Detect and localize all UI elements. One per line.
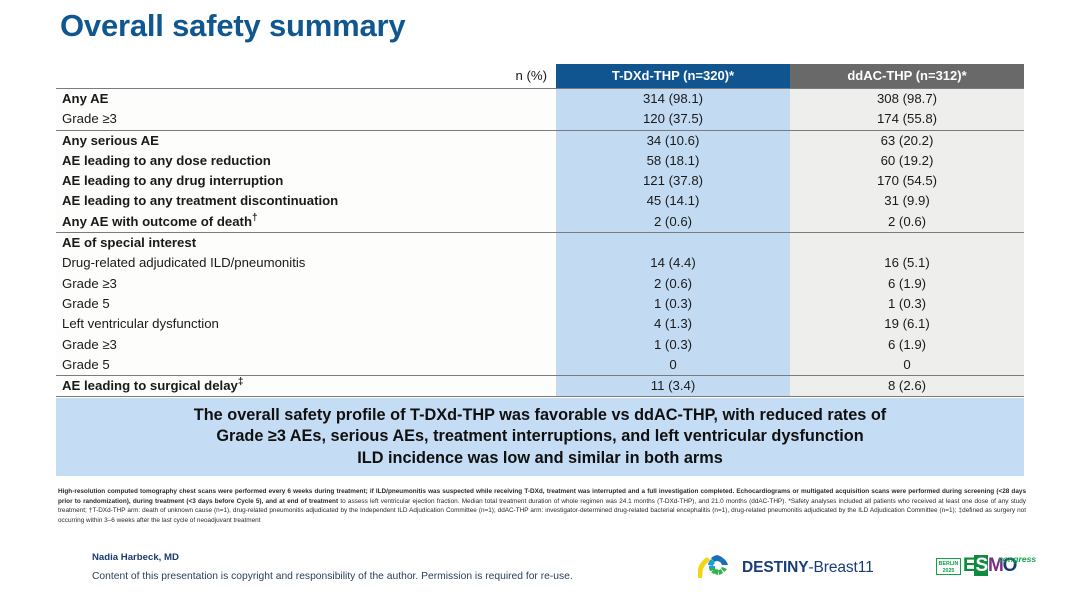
- table-row: Left ventricular dysfunction4 (1.3)19 (6…: [56, 314, 1024, 334]
- esmo-berlin-badge: BERLIN 2025: [936, 558, 961, 575]
- row-label: Grade 5: [56, 294, 556, 314]
- column-header-n-percent: n (%): [56, 64, 556, 89]
- table-row: Any serious AE34 (10.6)63 (20.2): [56, 130, 1024, 151]
- esmo-letter-s: S: [974, 555, 987, 576]
- conclusion-line-2: Grade ≥3 AEs, serious AEs, treatment int…: [216, 426, 863, 448]
- table-row: Drug-related adjudicated ILD/pneumonitis…: [56, 253, 1024, 273]
- row-label: Left ventricular dysfunction: [56, 314, 556, 334]
- cell-ddac-thp: 6 (1.9): [790, 335, 1024, 355]
- esmo-berlin-year: 2025: [937, 568, 960, 575]
- presenter-name: Nadia Harbeck, MD: [92, 552, 179, 563]
- row-label: Grade ≥3: [56, 109, 556, 130]
- cell-tdxd-thp: 4 (1.3): [556, 314, 790, 334]
- destiny-fan-icon: [698, 552, 736, 583]
- conclusion-callout: The overall safety profile of T-DXd-THP …: [56, 398, 1024, 476]
- cell-tdxd-thp: 2 (0.6): [556, 212, 790, 233]
- row-footnote-marker: ‡: [238, 377, 244, 388]
- cell-tdxd-thp: 121 (37.8): [556, 171, 790, 191]
- cell-tdxd-thp: 1 (0.3): [556, 294, 790, 314]
- cell-tdxd-thp: 34 (10.6): [556, 130, 790, 151]
- esmo-congress-word: congress: [998, 554, 1036, 564]
- cell-ddac-thp: 1 (0.3): [790, 294, 1024, 314]
- row-label: AE leading to surgical delay‡: [56, 376, 556, 397]
- table-row: Grade ≥3120 (37.5)174 (55.8): [56, 109, 1024, 130]
- page-title: Overall safety summary: [60, 8, 405, 44]
- cell-tdxd-thp: 2 (0.6): [556, 274, 790, 294]
- cell-tdxd-thp: 1 (0.3): [556, 335, 790, 355]
- cell-tdxd-thp: 45 (14.1): [556, 191, 790, 211]
- table-body: Any AE314 (98.1)308 (98.7)Grade ≥3120 (3…: [56, 89, 1024, 397]
- table-row: AE of special interest: [56, 233, 1024, 254]
- row-label: AE leading to any dose reduction: [56, 151, 556, 171]
- cell-tdxd-thp: 0: [556, 355, 790, 376]
- cell-ddac-thp: 19 (6.1): [790, 314, 1024, 334]
- cell-ddac-thp: 6 (1.9): [790, 274, 1024, 294]
- cell-ddac-thp: 31 (9.9): [790, 191, 1024, 211]
- cell-ddac-thp: 170 (54.5): [790, 171, 1024, 191]
- cell-ddac-thp: 8 (2.6): [790, 376, 1024, 397]
- column-header-ddac-thp: ddAC-THP (n=312)*: [790, 64, 1024, 89]
- destiny-logo-text: DESTINY-Breast11: [742, 559, 874, 577]
- cell-tdxd-thp: [556, 233, 790, 254]
- row-label: Grade ≥3: [56, 274, 556, 294]
- cell-tdxd-thp: 11 (3.4): [556, 376, 790, 397]
- footer-divider: [0, 541, 1080, 542]
- safety-summary-table: n (%) T-DXd-THP (n=320)* ddAC-THP (n=312…: [56, 64, 1024, 397]
- destiny-logo-bold: DESTINY: [742, 559, 808, 576]
- row-label: AE leading to any treatment discontinuat…: [56, 191, 556, 211]
- esmo-congress-logo: BERLIN 2025 ESMO congress: [936, 554, 1028, 584]
- row-footnote-marker: †: [252, 212, 258, 223]
- conclusion-line-1: The overall safety profile of T-DXd-THP …: [194, 405, 886, 427]
- row-label: Any AE: [56, 89, 556, 110]
- row-label: Drug-related adjudicated ILD/pneumonitis: [56, 253, 556, 273]
- row-label: Any serious AE: [56, 130, 556, 151]
- table-row: Any AE314 (98.1)308 (98.7): [56, 89, 1024, 110]
- destiny-logo-rest: -Breast11: [808, 559, 873, 576]
- table-header: n (%) T-DXd-THP (n=320)* ddAC-THP (n=312…: [56, 64, 1024, 89]
- cell-ddac-thp: 16 (5.1): [790, 253, 1024, 273]
- cell-ddac-thp: 60 (19.2): [790, 151, 1024, 171]
- row-label: Grade 5: [56, 355, 556, 376]
- row-label: Grade ≥3: [56, 335, 556, 355]
- row-label: AE of special interest: [56, 233, 556, 254]
- copyright-notice: Content of this presentation is copyrigh…: [92, 571, 573, 582]
- table-row: Grade 51 (0.3)1 (0.3): [56, 294, 1024, 314]
- cell-tdxd-thp: 14 (4.4): [556, 253, 790, 273]
- table-row: Any AE with outcome of death†2 (0.6)2 (0…: [56, 212, 1024, 233]
- row-label: Any AE with outcome of death†: [56, 212, 556, 233]
- row-label: AE leading to any drug interruption: [56, 171, 556, 191]
- cell-ddac-thp: 63 (20.2): [790, 130, 1024, 151]
- destiny-breast11-logo: DESTINY-Breast11: [698, 552, 874, 583]
- cell-ddac-thp: [790, 233, 1024, 254]
- column-header-tdxd-thp: T-DXd-THP (n=320)*: [556, 64, 790, 89]
- esmo-berlin-city: BERLIN: [937, 561, 960, 568]
- conclusion-line-3: ILD incidence was low and similar in bot…: [357, 448, 723, 470]
- table-row: AE leading to any treatment discontinuat…: [56, 191, 1024, 211]
- table-row: AE leading to any dose reduction58 (18.1…: [56, 151, 1024, 171]
- cell-ddac-thp: 0: [790, 355, 1024, 376]
- cell-ddac-thp: 174 (55.8): [790, 109, 1024, 130]
- cell-tdxd-thp: 58 (18.1): [556, 151, 790, 171]
- table-row: Grade ≥32 (0.6)6 (1.9): [56, 274, 1024, 294]
- table-row: Grade 500: [56, 355, 1024, 376]
- table-row: AE leading to surgical delay‡11 (3.4)8 (…: [56, 376, 1024, 397]
- cell-ddac-thp: 308 (98.7): [790, 89, 1024, 110]
- table-header-row: n (%) T-DXd-THP (n=320)* ddAC-THP (n=312…: [56, 64, 1024, 89]
- esmo-letter-e: E: [963, 555, 974, 576]
- footnotes-block: High-resolution computed tomography ches…: [58, 487, 1026, 526]
- table-row: AE leading to any drug interruption121 (…: [56, 171, 1024, 191]
- table-row: Grade ≥31 (0.3)6 (1.9): [56, 335, 1024, 355]
- cell-ddac-thp: 2 (0.6): [790, 212, 1024, 233]
- cell-tdxd-thp: 120 (37.5): [556, 109, 790, 130]
- cell-tdxd-thp: 314 (98.1): [556, 89, 790, 110]
